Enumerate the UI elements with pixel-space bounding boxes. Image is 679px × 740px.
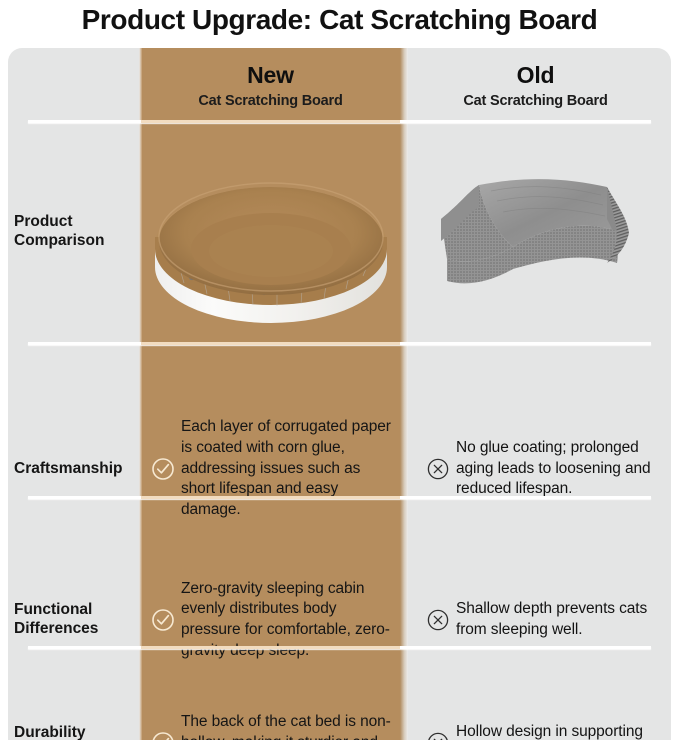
- table-row: Craftsmanship Each layer of corrugated p…: [8, 396, 671, 542]
- new-product-image: [141, 137, 400, 327]
- old-product-image: [400, 157, 671, 307]
- divider-header: [28, 120, 651, 123]
- table-row: FunctionalDifferences Zero-gravity sleep…: [8, 548, 671, 692]
- row-label-text: FunctionalDifferences: [14, 601, 98, 639]
- divider-craftsmanship: [28, 496, 651, 499]
- row-label-text: DurabilityDifferences: [14, 724, 98, 740]
- row-label-craftsmanship: Craftsmanship: [8, 396, 141, 542]
- feature-text: Each layer of corrugated paper is coated…: [181, 417, 397, 520]
- functional-old-cell: Shallow depth prevents cats from sleepin…: [400, 548, 671, 692]
- check-circle-icon: [151, 608, 175, 632]
- feature-item: No glue coating; prolonged aging leads t…: [400, 438, 671, 500]
- row-label-durability-differences: DurabilityDifferences: [8, 698, 141, 740]
- feature-text: Shallow depth prevents cats from sleepin…: [456, 599, 668, 640]
- row-label-functional-differences: FunctionalDifferences: [8, 548, 141, 692]
- product-image-old-cell: [400, 124, 671, 340]
- check-circle-icon: [151, 731, 175, 740]
- header-old-group: Old Cat Scratching Board: [400, 60, 671, 112]
- cross-circle-icon: [426, 731, 450, 740]
- feature-text: The back of the cat bed is non-hollow, m…: [181, 712, 397, 740]
- comparison-infographic: Product Upgrade: Cat Scratching Board Ne…: [0, 0, 679, 740]
- feature-text: Hollow design in supporting areas.: [456, 722, 668, 740]
- row-label-product-comparison: ProductComparison: [8, 124, 141, 340]
- cross-circle-icon: [426, 608, 450, 632]
- header-old-cell: Old Cat Scratching Board: [400, 54, 671, 118]
- row-label-text: ProductComparison: [14, 213, 104, 251]
- divider-functional: [28, 646, 651, 649]
- page-title: Product Upgrade: Cat Scratching Board: [0, 0, 679, 44]
- header-old-subtitle: Cat Scratching Board: [463, 93, 607, 109]
- comparison-table: New Cat Scratching Board Old Cat Scratch…: [8, 48, 671, 740]
- feature-item: Each layer of corrugated paper is coated…: [141, 417, 400, 520]
- feature-text: No glue coating; prolonged aging leads t…: [456, 438, 668, 500]
- durability-old-cell: Hollow design in supporting areas.: [400, 698, 671, 740]
- table-row: ProductComparison: [8, 124, 671, 340]
- header-new-subtitle: Cat Scratching Board: [198, 93, 342, 109]
- craftsmanship-old-cell: No glue coating; prolonged aging leads t…: [400, 396, 671, 542]
- header-new-cell: New Cat Scratching Board: [141, 54, 400, 118]
- feature-item: The back of the cat bed is non-hollow, m…: [141, 712, 400, 740]
- table-header-row: New Cat Scratching Board Old Cat Scratch…: [8, 54, 671, 118]
- cross-circle-icon: [426, 457, 450, 481]
- check-circle-icon: [151, 457, 175, 481]
- functional-new-cell: Zero-gravity sleeping cabin evenly distr…: [141, 548, 400, 692]
- header-new-title: New: [247, 62, 294, 88]
- feature-item: Hollow design in supporting areas.: [400, 722, 671, 740]
- durability-new-cell: The back of the cat bed is non-hollow, m…: [141, 698, 400, 740]
- header-old-title: Old: [517, 62, 555, 88]
- row-label-text: Craftsmanship: [14, 460, 123, 479]
- craftsmanship-new-cell: Each layer of corrugated paper is coated…: [141, 396, 400, 542]
- product-image-new-cell: [141, 124, 400, 340]
- header-new-group: New Cat Scratching Board: [141, 60, 400, 112]
- header-label-cell: [8, 54, 141, 118]
- feature-item: Shallow depth prevents cats from sleepin…: [400, 599, 671, 640]
- divider-product: [28, 342, 651, 345]
- table-row: DurabilityDifferences The back of the ca…: [8, 698, 671, 740]
